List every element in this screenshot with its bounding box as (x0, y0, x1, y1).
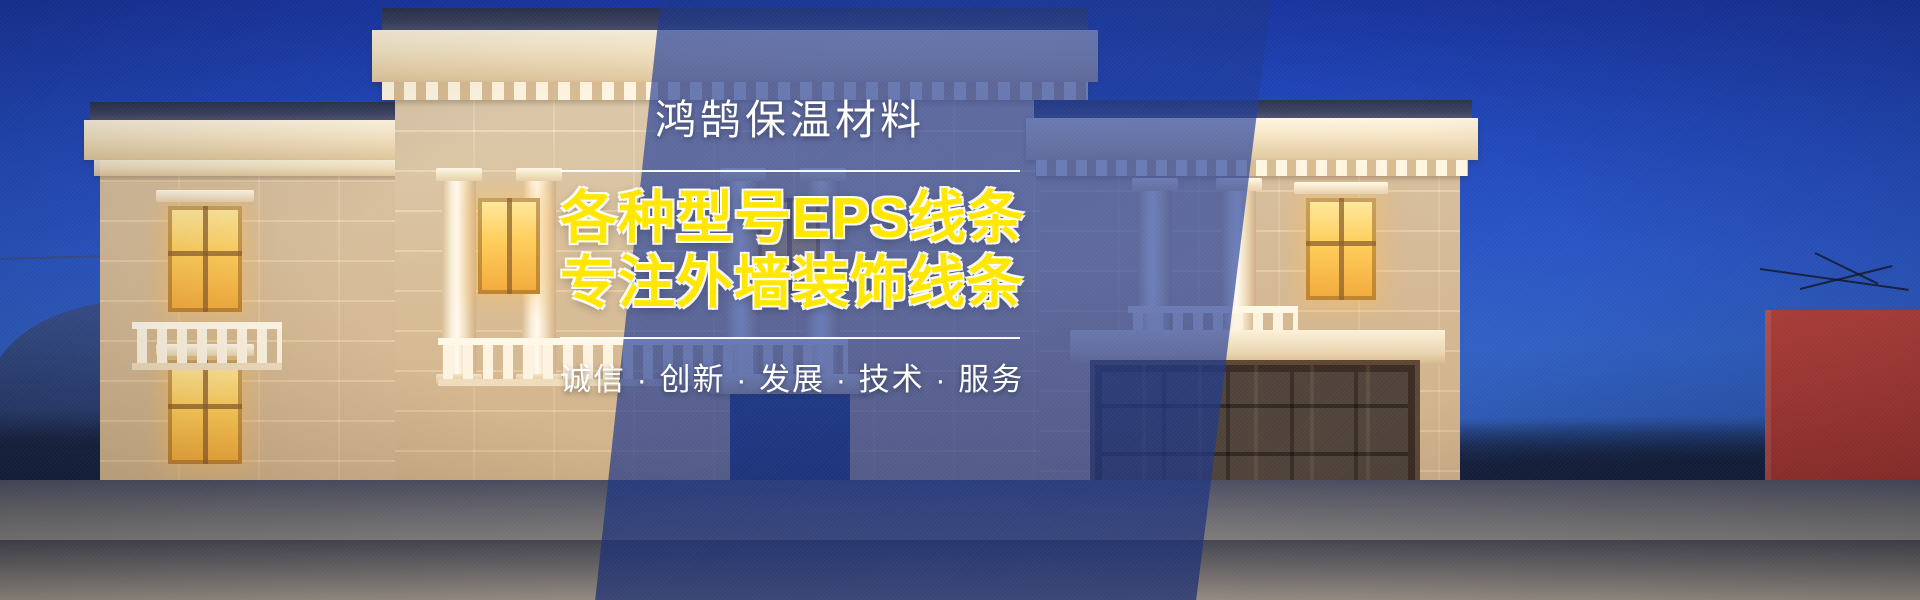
window-transom (168, 404, 242, 409)
window-transom (168, 251, 242, 256)
window-mullion (203, 360, 208, 464)
window-right-upper (1306, 198, 1376, 300)
window-mullion (1339, 198, 1344, 300)
banner-copy-block: 鸿鹄保温材料 各种型号EPS线条 专注外墙装饰线条 诚信 · 创新 · 发展 ·… (560, 96, 1020, 398)
window-center-upper-left (478, 198, 540, 294)
balustrade-left (132, 322, 282, 370)
window-transom (1306, 241, 1376, 246)
window-mullion (507, 198, 512, 294)
promo-banner: 鸿鹄保温材料 各种型号EPS线条 专注外墙装饰线条 诚信 · 创新 · 发展 ·… (0, 0, 1920, 600)
window-left-lower (168, 360, 242, 464)
headline-group: 各种型号EPS线条 专注外墙装饰线条 (560, 186, 1020, 315)
window-hood (156, 190, 254, 202)
divider-bottom (560, 337, 1020, 339)
cornice-left-lower (94, 160, 436, 176)
roofline-left (90, 102, 440, 122)
window-mullion (203, 206, 208, 312)
cornice-left (84, 120, 446, 160)
window-left-upper (168, 206, 242, 312)
headline-line-2: 专注外墙装饰线条 (560, 251, 1020, 315)
window-hood (1294, 182, 1388, 194)
tagline: 诚信 · 创新 · 发展 · 技术 · 服务 (560, 361, 1020, 398)
divider-top (560, 170, 1020, 172)
headline-line-1: 各种型号EPS线条 (560, 186, 1020, 250)
brand-eyebrow: 鸿鹄保温材料 (560, 96, 1020, 144)
